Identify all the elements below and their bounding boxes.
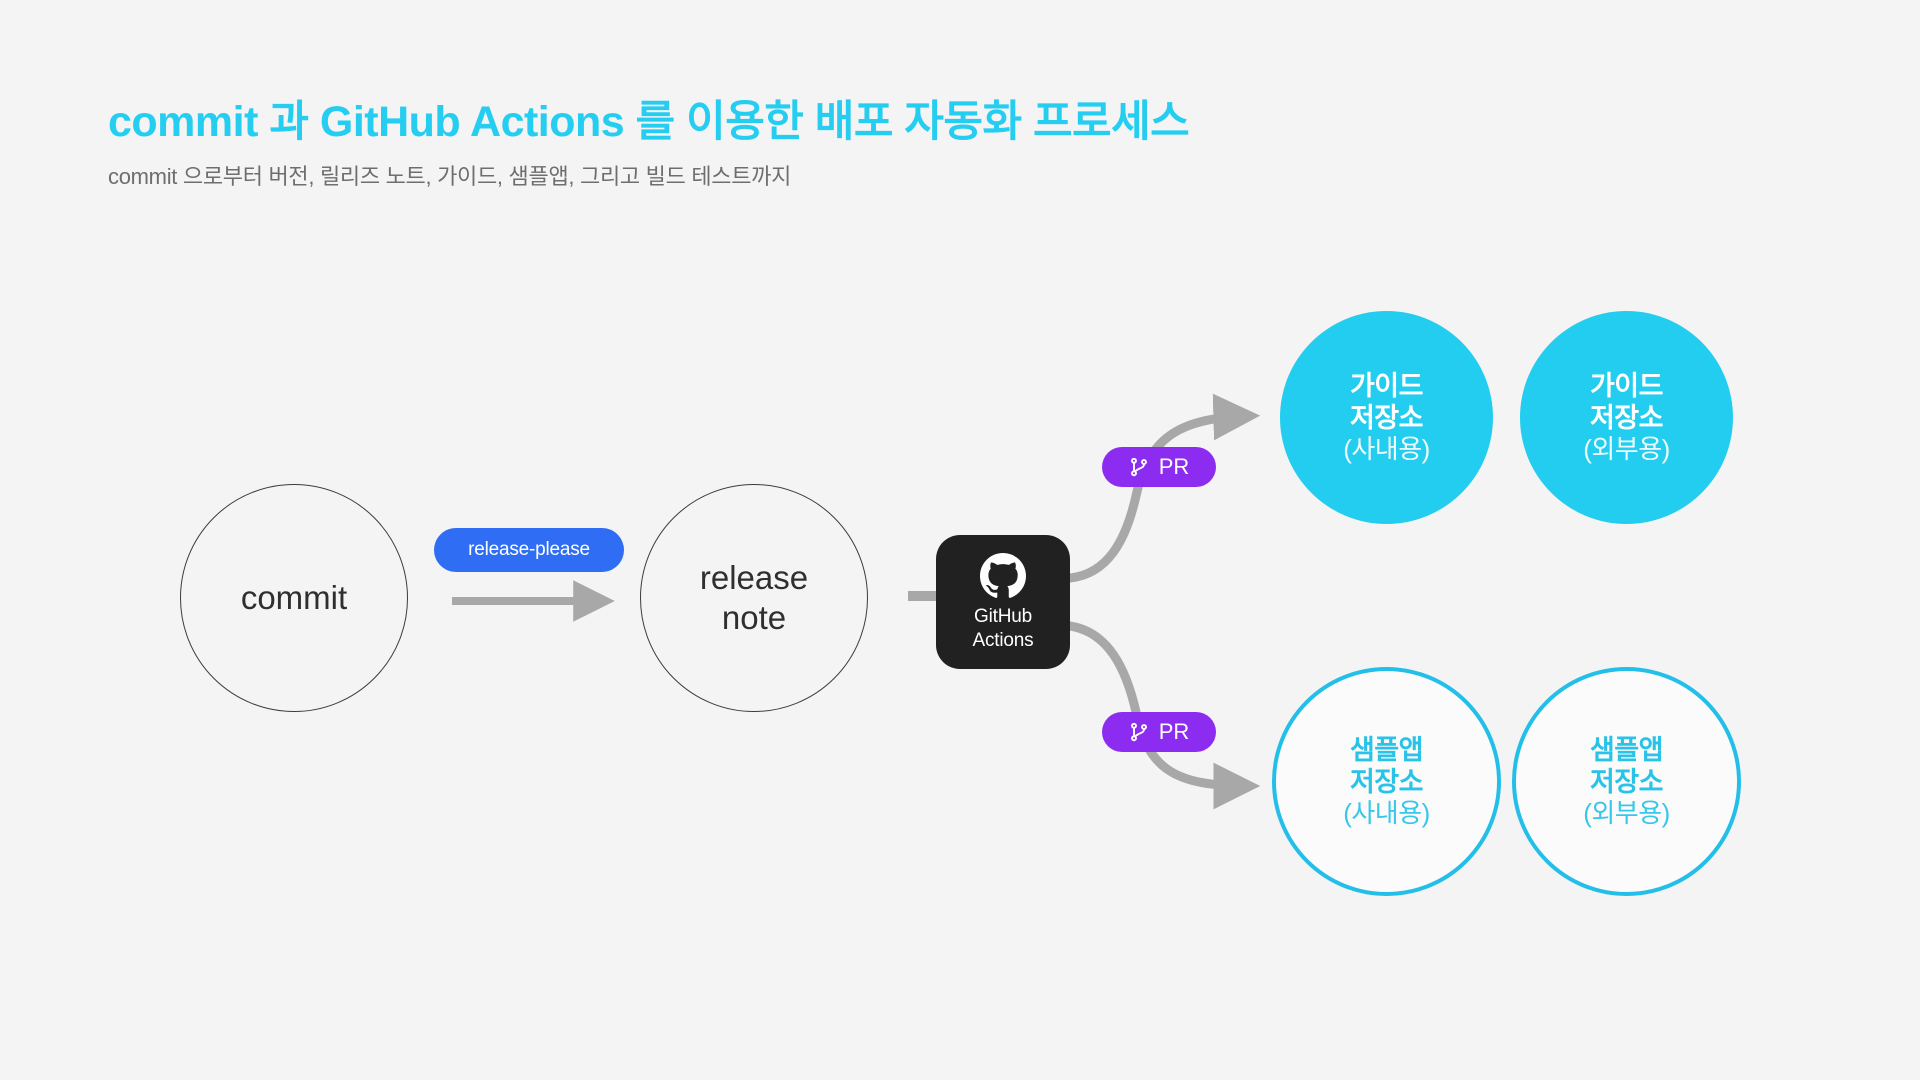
node-guide-external-line1: 가이드 (1583, 370, 1670, 402)
arrow-actions-to-sample-repo (1070, 626, 1248, 786)
pill-pr-bottom-label: PR (1159, 721, 1190, 743)
node-guide-repo-internal[interactable]: 가이드 저장소 (사내용) (1280, 311, 1493, 524)
pill-release-please-label: release-please (468, 539, 590, 561)
pill-pr-top-label: PR (1159, 456, 1190, 478)
node-release-note[interactable]: release note (640, 484, 868, 712)
node-commit-label: commit (241, 578, 347, 618)
node-sample-external-line2: 저장소 (1583, 766, 1670, 798)
node-guide-internal-line1: 가이드 (1343, 370, 1430, 402)
git-branch-icon (1129, 456, 1149, 478)
pill-pr-bottom[interactable]: PR (1102, 712, 1216, 752)
pill-release-please[interactable]: release-please (434, 528, 624, 572)
node-sample-repo-internal[interactable]: 샘플앱 저장소 (사내용) (1272, 667, 1501, 896)
git-branch-icon (1129, 721, 1149, 743)
node-guide-internal-line3: (사내용) (1343, 434, 1430, 465)
node-release-note-line1: release (700, 558, 808, 598)
node-github-actions[interactable]: GitHub Actions (936, 535, 1070, 669)
node-sample-internal-line1: 샘플앱 (1343, 734, 1430, 766)
node-guide-external-line2: 저장소 (1583, 402, 1670, 434)
node-sample-internal-line3: (사내용) (1343, 798, 1430, 829)
page-subtitle: commit 으로부터 버전, 릴리즈 노트, 가이드, 샘플앱, 그리고 빌드… (108, 162, 1608, 193)
node-guide-repo-external[interactable]: 가이드 저장소 (외부용) (1520, 311, 1733, 524)
github-octocat-icon (980, 553, 1026, 599)
node-guide-external-line3: (외부용) (1583, 434, 1670, 465)
node-sample-external-line3: (외부용) (1583, 798, 1670, 829)
diagram-canvas: commit 과 GitHub Actions 를 이용한 배포 자동화 프로세… (0, 0, 1920, 1080)
node-commit[interactable]: commit (180, 484, 408, 712)
arrow-actions-to-guide-repo (1070, 416, 1248, 578)
node-guide-internal-line2: 저장소 (1343, 402, 1430, 434)
header: commit 과 GitHub Actions 를 이용한 배포 자동화 프로세… (108, 96, 1608, 193)
node-github-actions-line2: Actions (973, 630, 1034, 651)
node-release-note-line2: note (700, 598, 808, 638)
node-sample-external-line1: 샘플앱 (1583, 734, 1670, 766)
page-title: commit 과 GitHub Actions 를 이용한 배포 자동화 프로세… (108, 96, 1608, 150)
pill-pr-top[interactable]: PR (1102, 447, 1216, 487)
node-sample-internal-line2: 저장소 (1343, 766, 1430, 798)
node-github-actions-line1: GitHub (974, 606, 1032, 627)
node-sample-repo-external[interactable]: 샘플앱 저장소 (외부용) (1512, 667, 1741, 896)
